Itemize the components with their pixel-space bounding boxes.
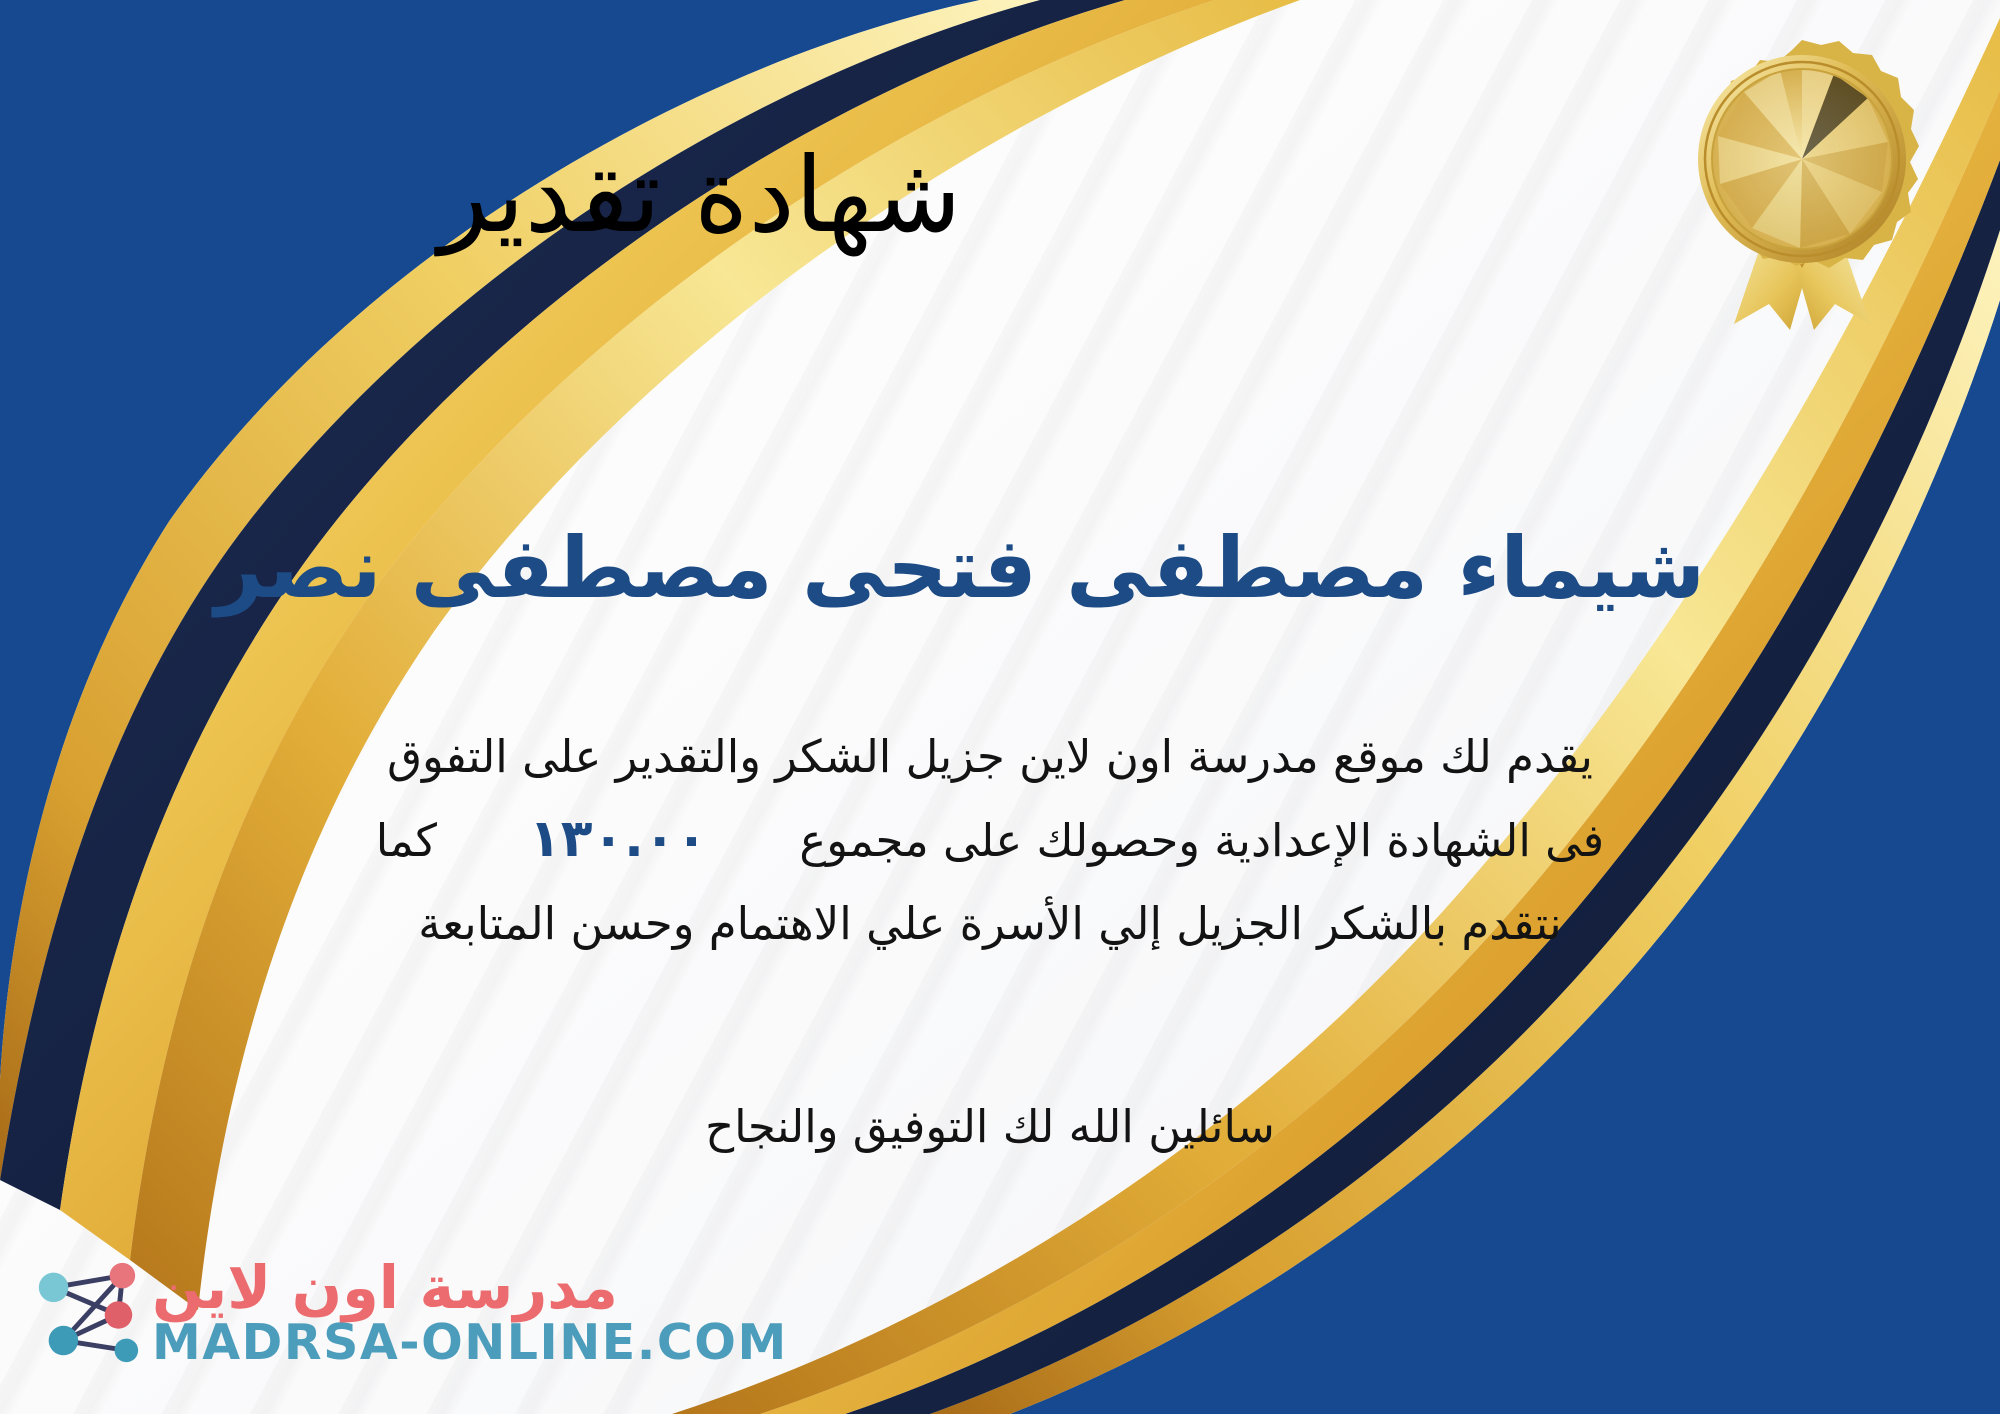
gold-award-medal-icon (1672, 32, 1932, 332)
brand-logo[interactable]: مدرسة اون لاين MADRSA-ONLINE.COM (28, 1254, 788, 1372)
body-line-1: يقدم لك موقع مدرسة اون لاين جزيل الشكر و… (55, 718, 1925, 795)
certificate-content: شهادة تقدير شيماء مصطفى فتحى مصطفى نصر ي… (0, 0, 2000, 1414)
brand-name-arabic: مدرسة اون لاين (152, 1258, 618, 1317)
page-title: شهادة تقدير (0, 138, 1400, 252)
body-line-3: نتقدم بالشكر الجزيل إلي الأسرة علي الاهت… (55, 885, 1925, 962)
grade-total-value: ١٣٠.٠٠ (507, 809, 729, 869)
network-nodes-icon (28, 1254, 146, 1372)
closing-wish: سائلين الله لك التوفيق والنجاح (55, 1100, 1925, 1153)
certificate-canvas: شهادة تقدير شيماء مصطفى فتحى مصطفى نصر ي… (0, 0, 2000, 1414)
brand-text-block: مدرسة اون لاين MADRSA-ONLINE.COM (152, 1258, 788, 1368)
body-line-2-suffix: كما (376, 814, 437, 867)
brand-website[interactable]: MADRSA-ONLINE.COM (152, 1317, 788, 1368)
body-paragraph: يقدم لك موقع مدرسة اون لاين جزيل الشكر و… (55, 718, 1925, 962)
body-line-2-prefix: فى الشهادة الإعدادية وحصولك على مجموع (799, 814, 1604, 867)
recipient-name: شيماء مصطفى فتحى مصطفى نصر (80, 520, 1840, 617)
body-line-2: فى الشهادة الإعدادية وحصولك على مجموع١٣٠… (55, 795, 1925, 884)
